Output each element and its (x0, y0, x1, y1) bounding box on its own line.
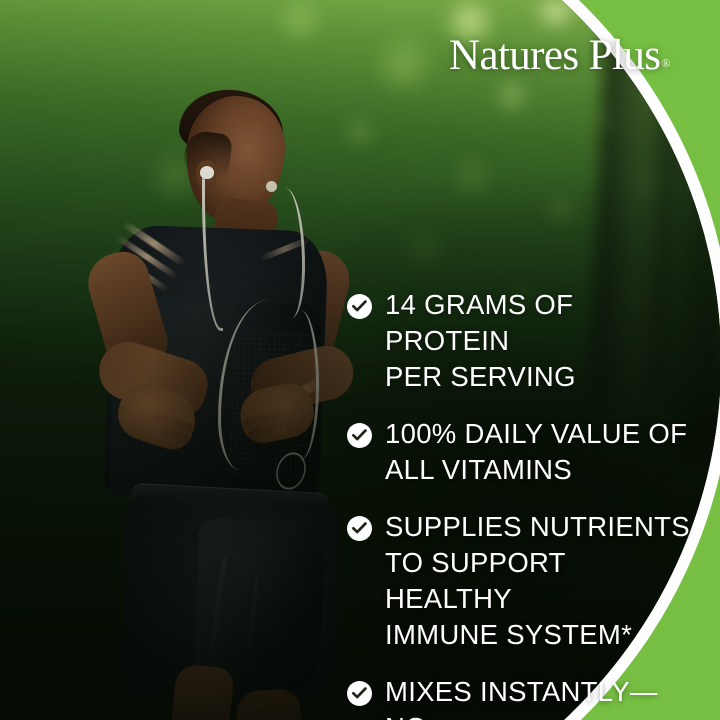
check-circle-icon (347, 516, 372, 541)
promo-banner: Natures Plus® 14 GRAMS OF PROTEIN PER SE… (0, 0, 720, 720)
list-item: 14 GRAMS OF PROTEIN PER SERVING (347, 287, 699, 395)
list-item: 100% DAILY VALUE OF ALL VITAMINS (347, 416, 699, 488)
brand-logo: Natures Plus® (449, 34, 671, 77)
check-circle-icon (347, 423, 372, 448)
benefit-text: 14 GRAMS OF PROTEIN PER SERVING (385, 287, 699, 395)
benefit-text: MIXES INSTANTLY—NO BLENDER REQUIRED (385, 674, 699, 720)
list-item: MIXES INSTANTLY—NO BLENDER REQUIRED (347, 674, 699, 720)
benefits-list: 14 GRAMS OF PROTEIN PER SERVING 100% DAI… (347, 287, 699, 720)
benefit-text: SUPPLIES NUTRIENTS TO SUPPORT HEALTHY IM… (385, 509, 699, 653)
check-circle-icon (347, 681, 372, 706)
registered-trademark-icon: ® (661, 56, 670, 70)
benefit-text: 100% DAILY VALUE OF ALL VITAMINS (385, 416, 687, 488)
check-circle-icon (347, 294, 372, 319)
list-item: SUPPLIES NUTRIENTS TO SUPPORT HEALTHY IM… (347, 509, 699, 653)
brand-logo-text: Natures Plus (449, 32, 660, 79)
